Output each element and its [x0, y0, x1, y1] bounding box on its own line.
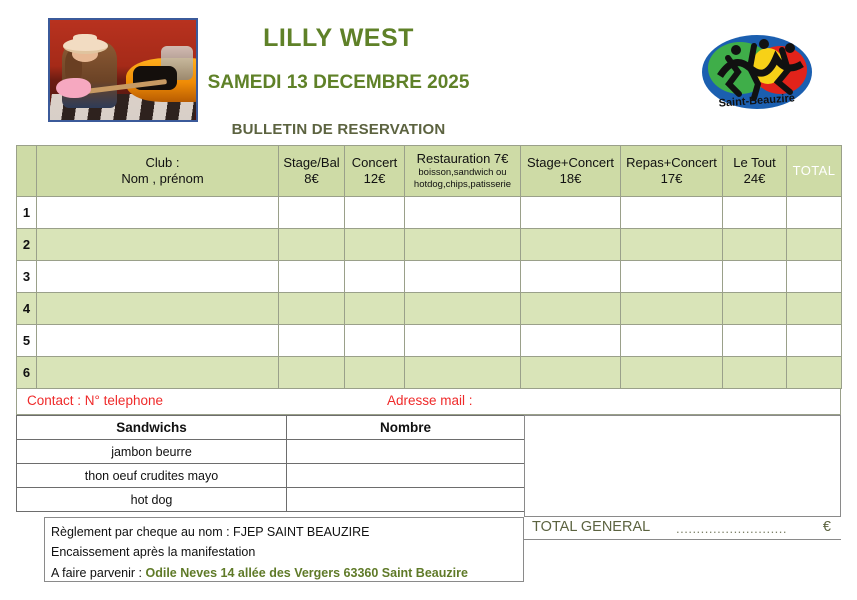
row-number: 5 — [17, 325, 37, 357]
form-subtitle: BULLETIN DE RESERVATION — [0, 121, 857, 138]
header-stage-concert-price: 18€ — [521, 171, 620, 187]
cell-stage-concert[interactable] — [521, 325, 621, 357]
sandwich-qty[interactable] — [287, 464, 525, 488]
cell-total[interactable] — [787, 229, 842, 261]
cell-concert[interactable] — [345, 197, 405, 229]
fjep-logo: Saint-Beauzire — [698, 24, 816, 120]
note-send-to: A faire parvenir : Odile Neves 14 allée … — [51, 563, 523, 583]
cell-le-tout[interactable] — [723, 261, 787, 293]
note-payment: Règlement par cheque au nom : FJEP SAINT… — [51, 522, 523, 542]
header-restauration: Restauration 7€ boisson,sandwich ou hotd… — [405, 146, 521, 197]
cell-restauration[interactable] — [405, 261, 521, 293]
cell-repas-concert[interactable] — [621, 325, 723, 357]
cell-restauration[interactable] — [405, 229, 521, 261]
cell-restauration[interactable] — [405, 325, 521, 357]
contact-phone-label: Contact : N° telephone — [27, 393, 163, 408]
total-general-dots: ........................... — [676, 521, 787, 536]
cell-stage-concert[interactable] — [521, 229, 621, 261]
total-general-label: TOTAL GENERAL — [532, 519, 650, 535]
cell-club[interactable] — [37, 325, 279, 357]
row-number: 1 — [17, 197, 37, 229]
cell-club[interactable] — [37, 261, 279, 293]
cell-le-tout[interactable] — [723, 293, 787, 325]
cell-concert[interactable] — [345, 325, 405, 357]
note-send-to-address: Odile Neves 14 allée des Vergers 63360 S… — [146, 566, 468, 580]
cell-total[interactable] — [787, 261, 842, 293]
cell-total[interactable] — [787, 293, 842, 325]
header-row-number — [17, 146, 37, 197]
header-repas-concert-label: Repas+Concert — [621, 155, 722, 171]
cell-stage-bal[interactable] — [279, 293, 345, 325]
cell-total[interactable] — [787, 325, 842, 357]
fjep-logo-icon: Saint-Beauzire — [698, 24, 816, 120]
header-stage-bal: Stage/Bal 8€ — [279, 146, 345, 197]
header-restauration-detail1: boisson,sandwich ou — [405, 167, 520, 179]
table-header-row: Club : Nom , prénom Stage/Bal 8€ Concert… — [17, 146, 842, 197]
header-club-line1: Club : — [47, 155, 278, 171]
contact-mail-label: Adresse mail : — [387, 393, 473, 408]
sandwich-table-body: jambon beurre thon oeuf crudites mayo ho… — [17, 440, 525, 512]
cell-repas-concert[interactable] — [621, 261, 723, 293]
header-repas-concert: Repas+Concert 17€ — [621, 146, 723, 197]
cell-club[interactable] — [37, 293, 279, 325]
sandwich-header-qty: Nombre — [287, 416, 525, 440]
note-encashment: Encaissement après la manifestation — [51, 542, 523, 562]
cell-stage-concert[interactable] — [521, 357, 621, 389]
cell-total[interactable] — [787, 357, 842, 389]
table-row[interactable]: 2 — [17, 229, 842, 261]
cell-stage-concert[interactable] — [521, 197, 621, 229]
header-le-tout-price: 24€ — [723, 171, 786, 187]
cell-concert[interactable] — [345, 293, 405, 325]
sandwich-row[interactable]: jambon beurre — [17, 440, 525, 464]
sandwich-name: hot dog — [17, 488, 287, 512]
cell-stage-bal[interactable] — [279, 357, 345, 389]
header-total: TOTAL — [787, 146, 842, 197]
header-le-tout-label: Le Tout — [723, 155, 786, 171]
cell-stage-bal[interactable] — [279, 261, 345, 293]
table-row[interactable]: 5 — [17, 325, 842, 357]
cell-stage-bal[interactable] — [279, 229, 345, 261]
total-general-currency: € — [823, 519, 831, 535]
cell-total[interactable] — [787, 197, 842, 229]
table-row[interactable]: 3 — [17, 261, 842, 293]
cell-concert[interactable] — [345, 357, 405, 389]
header-stage-concert: Stage+Concert 18€ — [521, 146, 621, 197]
cell-le-tout[interactable] — [723, 325, 787, 357]
sandwich-name: jambon beurre — [17, 440, 287, 464]
note-send-to-prefix: A faire parvenir : — [51, 566, 146, 580]
sandwich-table: Sandwichs Nombre jambon beurre thon oeuf… — [16, 415, 525, 512]
reservation-form-page: LILLY WEST SAMEDI 13 DECEMBRE 2025 BULLE… — [0, 0, 857, 600]
row-number: 3 — [17, 261, 37, 293]
header-club-line2: Nom , prénom — [47, 171, 278, 187]
reservation-table-body: 1 2 3 — [17, 197, 842, 389]
table-row[interactable]: 4 — [17, 293, 842, 325]
row-number: 2 — [17, 229, 37, 261]
sandwich-row[interactable]: hot dog — [17, 488, 525, 512]
notes-blank-box[interactable] — [524, 415, 841, 517]
payment-notes: Règlement par cheque au nom : FJEP SAINT… — [44, 517, 524, 582]
sandwich-header-row: Sandwichs Nombre — [17, 416, 525, 440]
cell-restauration[interactable] — [405, 357, 521, 389]
cell-le-tout[interactable] — [723, 229, 787, 261]
sandwich-qty[interactable] — [287, 440, 525, 464]
cell-club[interactable] — [37, 357, 279, 389]
cell-club[interactable] — [37, 197, 279, 229]
table-row[interactable]: 1 — [17, 197, 842, 229]
header-stage-bal-price: 8€ — [279, 171, 344, 187]
cell-repas-concert[interactable] — [621, 197, 723, 229]
cell-restauration[interactable] — [405, 293, 521, 325]
cell-stage-concert[interactable] — [521, 261, 621, 293]
cell-stage-bal[interactable] — [279, 325, 345, 357]
cell-repas-concert[interactable] — [621, 229, 723, 261]
sandwich-name: thon oeuf crudites mayo — [17, 464, 287, 488]
cell-stage-bal[interactable] — [279, 197, 345, 229]
header-concert-price: 12€ — [345, 171, 404, 187]
sandwich-qty[interactable] — [287, 488, 525, 512]
cell-restauration[interactable] — [405, 197, 521, 229]
reservation-table: Club : Nom , prénom Stage/Bal 8€ Concert… — [16, 145, 842, 389]
row-number: 6 — [17, 357, 37, 389]
header-restauration-detail2: hotdog,chips,patisserie — [405, 179, 520, 191]
header-le-tout: Le Tout 24€ — [723, 146, 787, 197]
cell-repas-concert[interactable] — [621, 357, 723, 389]
header-stage-concert-label: Stage+Concert — [521, 155, 620, 171]
cell-stage-concert[interactable] — [521, 293, 621, 325]
header-stage-bal-label: Stage/Bal — [279, 155, 344, 171]
cell-concert[interactable] — [345, 261, 405, 293]
sandwich-row[interactable]: thon oeuf crudites mayo — [17, 464, 525, 488]
cell-le-tout[interactable] — [723, 357, 787, 389]
cell-le-tout[interactable] — [723, 197, 787, 229]
header-club: Club : Nom , prénom — [37, 146, 279, 197]
contact-row[interactable]: Contact : N° telephone Adresse mail : — [16, 389, 841, 415]
header-repas-concert-price: 17€ — [621, 171, 722, 187]
cell-repas-concert[interactable] — [621, 293, 723, 325]
header-concert-label: Concert — [345, 155, 404, 171]
total-general-row[interactable]: TOTAL GENERAL ..........................… — [524, 517, 841, 540]
table-row[interactable]: 6 — [17, 357, 842, 389]
header-concert: Concert 12€ — [345, 146, 405, 197]
sandwich-header-name: Sandwichs — [17, 416, 287, 440]
header-restauration-label: Restauration 7€ — [405, 151, 520, 167]
cell-club[interactable] — [37, 229, 279, 261]
cell-concert[interactable] — [345, 229, 405, 261]
row-number: 4 — [17, 293, 37, 325]
